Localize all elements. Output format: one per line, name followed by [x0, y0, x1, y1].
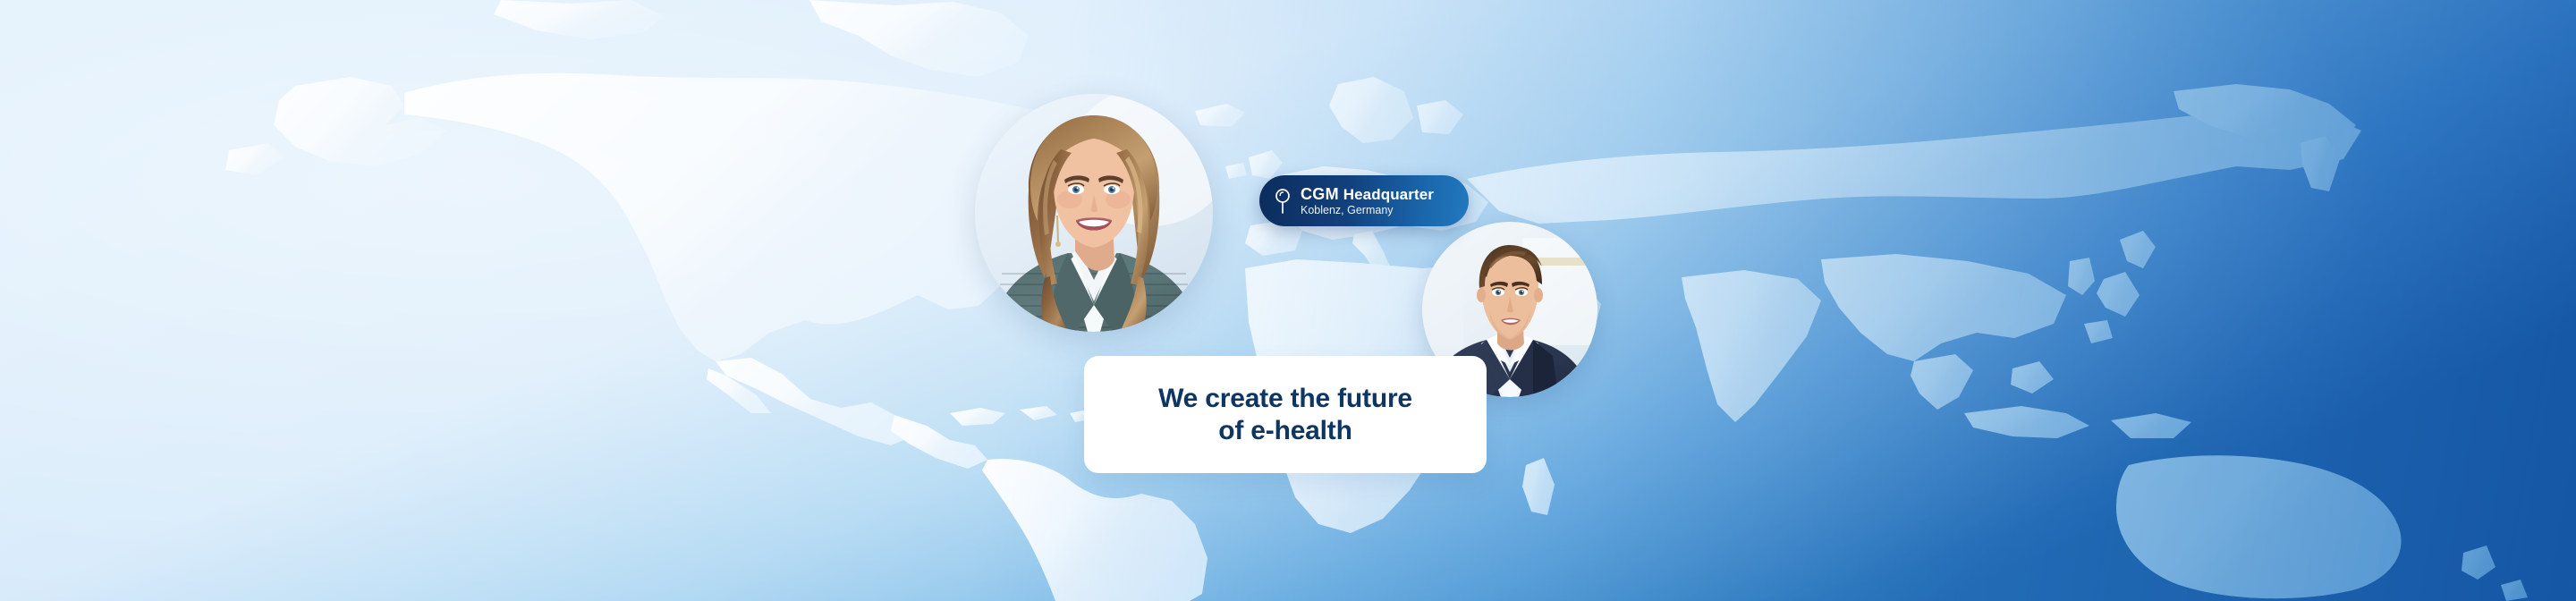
- headline-line-1: We create the future: [1158, 384, 1412, 413]
- avatar-woman: [975, 94, 1213, 332]
- location-pin-icon: [1274, 188, 1292, 215]
- badge-text-block: CGM Headquarter Koblenz, Germany: [1301, 186, 1434, 216]
- headquarter-badge[interactable]: CGM Headquarter Koblenz, Germany: [1259, 175, 1469, 226]
- headline-card: We create the future of e-health: [1084, 356, 1487, 473]
- badge-subtitle: Koblenz, Germany: [1301, 205, 1434, 216]
- badge-title-line: CGM Headquarter: [1301, 186, 1434, 202]
- badge-brand: CGM: [1301, 185, 1339, 203]
- headline-line-2: of e-health: [1218, 416, 1352, 445]
- badge-title: Headquarter: [1343, 186, 1434, 203]
- hero-banner: CGM Headquarter Koblenz, Germany We crea…: [0, 0, 2576, 601]
- headline-text: We create the future of e-health: [1158, 383, 1412, 447]
- world-map: [0, 0, 2576, 601]
